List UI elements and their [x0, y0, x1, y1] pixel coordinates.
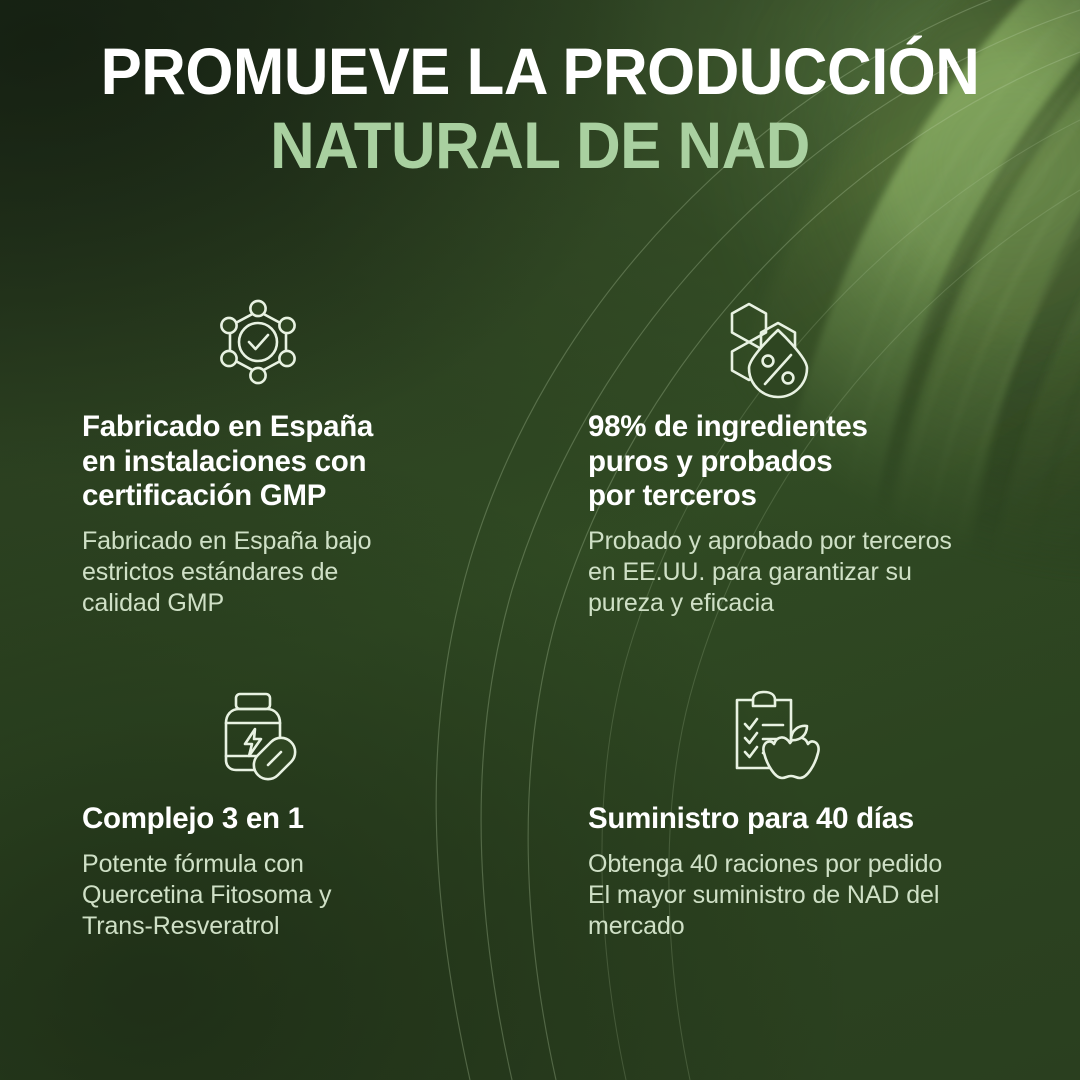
- feature-description: Potente fórmula con Quercetina Fitosoma …: [82, 849, 535, 943]
- feature-item-gmp: Fabricado en España en instalaciones con…: [24, 288, 535, 680]
- feature-title: Fabricado en España en instalaciones con…: [82, 410, 535, 514]
- feature-item-purity: 98% de ingredientes puros y probados por…: [535, 288, 1046, 680]
- feature-title: Suministro para 40 días: [588, 802, 1046, 837]
- heading-line-2: NATURAL DE NAD: [35, 112, 1045, 180]
- feature-title: Complejo 3 en 1: [82, 802, 535, 837]
- feature-description: Obtenga 40 raciones por pedido El mayor …: [588, 849, 1046, 943]
- feature-item-supply: Suministro para 40 días Obtenga 40 racio…: [535, 680, 1046, 1072]
- heading-line-1: PROMUEVE LA PRODUCCIÓN: [35, 38, 1045, 106]
- hexagon-network-check-icon: [199, 288, 317, 396]
- honeycomb-droplet-percent-icon: [710, 288, 828, 396]
- feature-description: Probado y aprobado por terceros en EE.UU…: [588, 526, 1046, 620]
- page-title: PROMUEVE LA PRODUCCIÓN NATURAL DE NAD: [0, 38, 1080, 180]
- supplement-bottle-capsule-icon: [199, 680, 317, 788]
- feature-item-complex: Complejo 3 en 1 Potente fórmula con Quer…: [24, 680, 535, 1072]
- clipboard-checklist-apple-icon: [710, 680, 828, 788]
- feature-description: Fabricado en España bajo estrictos están…: [82, 526, 535, 620]
- promo-infographic: PROMUEVE LA PRODUCCIÓN NATURAL DE NAD: [0, 0, 1080, 1080]
- feature-title: 98% de ingredientes puros y probados por…: [588, 410, 1046, 514]
- feature-grid: Fabricado en España en instalaciones con…: [0, 288, 1080, 1072]
